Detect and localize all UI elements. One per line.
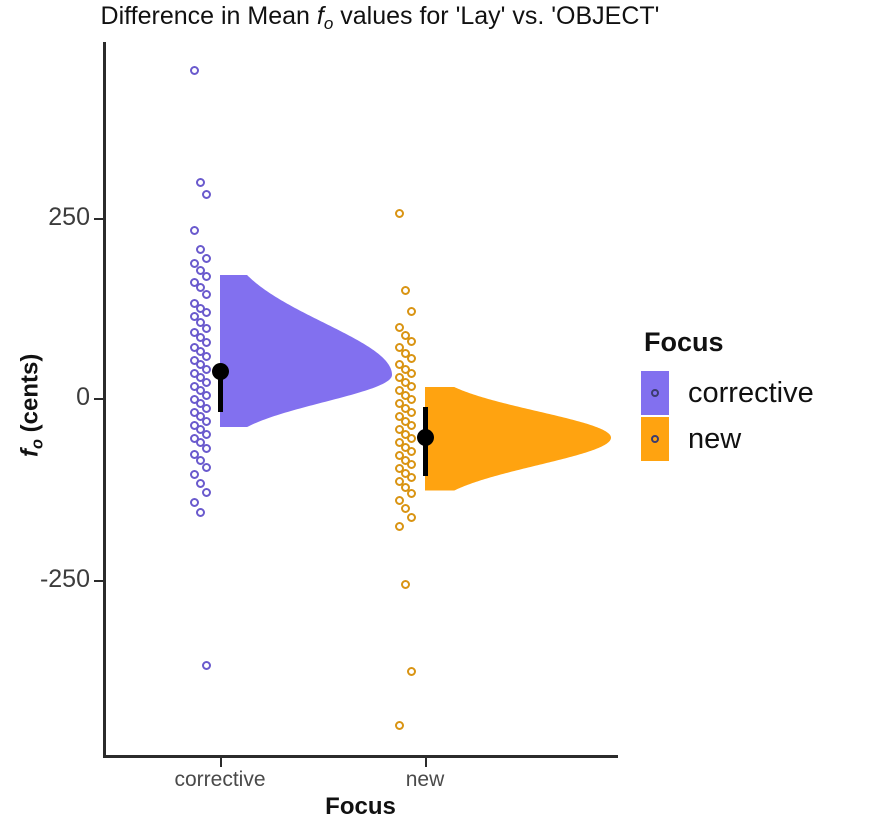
data-point bbox=[202, 444, 211, 453]
data-point bbox=[196, 245, 205, 254]
data-point bbox=[407, 369, 416, 378]
x-tick-label-new: new bbox=[345, 768, 505, 792]
data-point bbox=[395, 323, 404, 332]
legend-swatch-corrective bbox=[641, 371, 669, 415]
x-tick-mark-corrective bbox=[220, 758, 222, 767]
data-point bbox=[202, 404, 211, 413]
x-axis-title: Focus bbox=[103, 793, 618, 820]
data-point bbox=[202, 661, 211, 670]
data-point bbox=[407, 473, 416, 482]
y-tick-mark-0 bbox=[94, 398, 104, 400]
data-point bbox=[395, 522, 404, 531]
data-point bbox=[407, 382, 416, 391]
data-point bbox=[196, 479, 205, 488]
mean-marker bbox=[417, 429, 434, 446]
title-italic-f: f bbox=[317, 2, 324, 30]
ylabel-subscript-o: o bbox=[28, 439, 46, 449]
title-subscript-o: o bbox=[324, 14, 333, 33]
ylabel-suffix: (cents) bbox=[17, 354, 44, 439]
data-point bbox=[202, 391, 211, 400]
data-point bbox=[395, 209, 404, 218]
confidence-interval-bar bbox=[218, 375, 223, 413]
data-point bbox=[407, 460, 416, 469]
data-point bbox=[202, 488, 211, 497]
data-point bbox=[407, 395, 416, 404]
data-point bbox=[202, 338, 211, 347]
legend-label-corrective: corrective bbox=[688, 377, 814, 410]
title-prefix: Difference in Mean bbox=[101, 2, 317, 30]
data-point bbox=[401, 286, 410, 295]
data-point bbox=[202, 324, 211, 333]
data-point bbox=[202, 365, 211, 374]
data-point bbox=[407, 447, 416, 456]
legend: Focus corrective new bbox=[641, 327, 880, 462]
data-point bbox=[202, 378, 211, 387]
legend-title: Focus bbox=[641, 327, 880, 358]
y-tick-label-0: 0 bbox=[76, 383, 90, 412]
mean-marker bbox=[212, 363, 229, 380]
legend-swatch-new bbox=[641, 417, 669, 461]
data-point bbox=[202, 272, 211, 281]
data-point bbox=[407, 667, 416, 676]
data-point bbox=[407, 307, 416, 316]
legend-label-new: new bbox=[688, 423, 741, 456]
data-point bbox=[401, 504, 410, 513]
data-point bbox=[196, 508, 205, 517]
ylabel-italic-f: f bbox=[17, 449, 44, 457]
violin-new bbox=[421, 387, 615, 491]
chart-title: Difference in Mean fo values for 'Lay' v… bbox=[0, 2, 760, 34]
data-point bbox=[407, 489, 416, 498]
legend-item-corrective[interactable]: corrective bbox=[641, 370, 880, 416]
data-point bbox=[407, 421, 416, 430]
data-point bbox=[401, 580, 410, 589]
data-point bbox=[202, 290, 211, 299]
y-axis-line bbox=[103, 42, 106, 758]
y-axis-title: fo (cents) bbox=[17, 255, 48, 555]
y-tick-mark-neg250 bbox=[94, 580, 104, 582]
legend-point-icon bbox=[651, 435, 659, 443]
y-tick-mark-250 bbox=[94, 218, 104, 220]
data-point bbox=[196, 178, 205, 187]
data-point bbox=[395, 721, 404, 730]
chart-figure: Difference in Mean fo values for 'Lay' v… bbox=[0, 0, 880, 820]
data-point bbox=[407, 337, 416, 346]
data-point bbox=[407, 513, 416, 522]
legend-item-new[interactable]: new bbox=[641, 416, 880, 462]
data-point bbox=[407, 434, 416, 443]
data-point bbox=[202, 308, 211, 317]
x-tick-mark-new bbox=[425, 758, 427, 767]
data-point bbox=[407, 354, 416, 363]
data-point bbox=[202, 463, 211, 472]
y-tick-label-250: 250 bbox=[48, 203, 90, 232]
violin-corrective bbox=[216, 275, 396, 427]
y-tick-label-neg250: -250 bbox=[40, 565, 90, 594]
data-point bbox=[202, 352, 211, 361]
data-point bbox=[190, 66, 199, 75]
data-point bbox=[202, 254, 211, 263]
data-point bbox=[407, 408, 416, 417]
x-axis-line bbox=[103, 755, 618, 758]
data-point bbox=[190, 470, 199, 479]
title-suffix: values for 'Lay' vs. 'OBJECT' bbox=[333, 2, 659, 30]
legend-point-icon bbox=[651, 389, 659, 397]
data-point bbox=[202, 430, 211, 439]
x-tick-label-corrective: corrective bbox=[120, 768, 320, 792]
data-point bbox=[190, 498, 199, 507]
data-point bbox=[202, 417, 211, 426]
data-point bbox=[190, 226, 199, 235]
data-point bbox=[202, 190, 211, 199]
